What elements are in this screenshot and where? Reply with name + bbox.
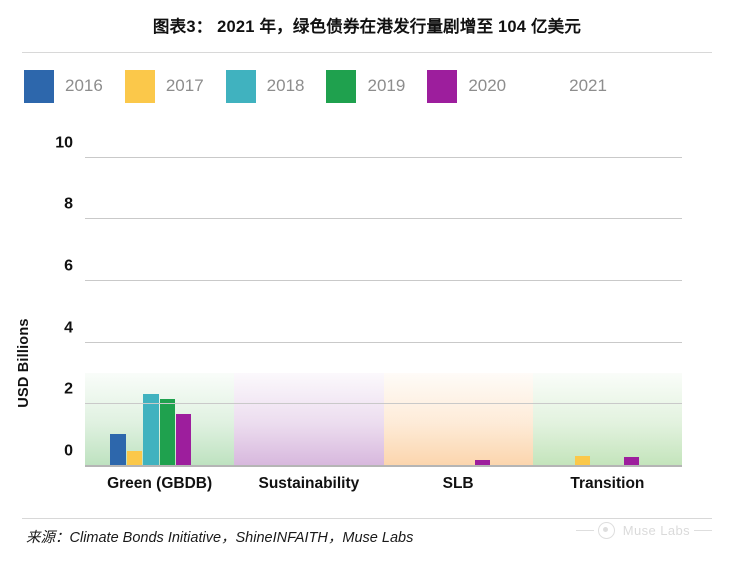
bar-transition-2017[interactable] <box>575 456 590 465</box>
legend-label: 2016 <box>65 76 103 96</box>
watermark: Muse Labs <box>576 522 712 539</box>
bar-group: Green (GBDB) <box>85 132 234 465</box>
page-title: 图表3： 2021 年，绿色债券在港发行量剧增至 104 亿美元 <box>153 13 581 37</box>
source-note: 来源：Climate Bonds Initiative，ShineINFAITH… <box>26 526 413 547</box>
bar-group: Transition <box>533 132 682 465</box>
x-axis-category-label: SLB <box>384 475 533 493</box>
bar-sustainability-2021[interactable] <box>342 419 357 465</box>
legend-swatch-icon <box>427 70 457 103</box>
x-axis-category-label: Transition <box>533 475 682 493</box>
chart-legend: 201620172018201920202021 <box>24 66 714 106</box>
watermark-dash-right <box>694 530 712 531</box>
gridline: 4 <box>85 342 682 343</box>
title-divider <box>22 52 712 53</box>
legend-label: 2017 <box>166 76 204 96</box>
bar-slb-2021[interactable] <box>491 446 506 465</box>
legend-swatch-icon <box>125 70 155 103</box>
gridline: 8 <box>85 218 682 219</box>
legend-item-2018[interactable]: 2018 <box>226 70 305 103</box>
bar-group: Sustainability <box>234 132 383 465</box>
chart-title-bar: 图表3： 2021 年，绿色债券在港发行量剧增至 104 亿美元 <box>0 0 734 50</box>
y-axis-tick-label: 4 <box>64 319 73 337</box>
y-axis-title: USD Billions <box>16 293 32 433</box>
x-axis-category-label: Sustainability <box>234 475 383 493</box>
legend-swatch-icon <box>226 70 256 103</box>
bar-green-gbdb-2018[interactable] <box>143 394 158 465</box>
legend-swatch-icon <box>24 70 54 103</box>
plot-wrapper: USD Billions Green (GBDB)SustainabilityS… <box>0 112 734 512</box>
bar-transition-2020[interactable] <box>624 457 639 465</box>
y-axis-tick-label: 6 <box>64 258 73 276</box>
bar-green-gbdb-2017[interactable] <box>127 451 142 465</box>
y-axis-tick-label: 8 <box>64 196 73 214</box>
gridline: 10 <box>85 157 682 158</box>
bar-transition-2021[interactable] <box>640 440 655 465</box>
plot-area: Green (GBDB)SustainabilitySLBTransition … <box>85 132 682 465</box>
legend-label: 2021 <box>569 76 607 96</box>
legend-item-2017[interactable]: 2017 <box>125 70 204 103</box>
legend-label: 2018 <box>267 76 305 96</box>
y-axis-tick-label: 10 <box>55 134 73 152</box>
watermark-dash-left <box>576 530 594 531</box>
y-axis-tick-label: 2 <box>64 381 73 399</box>
bar-green-gbdb-2020[interactable] <box>176 414 191 465</box>
muse-labs-logo-icon <box>598 522 615 539</box>
footer-divider <box>22 518 712 519</box>
y-axis-tick-label: 0 <box>64 443 73 461</box>
legend-label: 2020 <box>468 76 506 96</box>
watermark-label: Muse Labs <box>623 523 690 538</box>
legend-item-2021[interactable]: 2021 <box>528 70 607 103</box>
legend-item-2016[interactable]: 2016 <box>24 70 103 103</box>
bars-layer: Green (GBDB)SustainabilitySLBTransition <box>85 132 682 465</box>
bar-green-gbdb-2016[interactable] <box>110 434 125 465</box>
gridline: 2 <box>85 403 682 404</box>
bar-group: SLB <box>384 132 533 465</box>
legend-swatch-icon <box>528 70 558 103</box>
x-axis-category-label: Green (GBDB) <box>85 475 234 493</box>
legend-item-2020[interactable]: 2020 <box>427 70 506 103</box>
bar-green-gbdb-2019[interactable] <box>160 399 175 465</box>
legend-item-2019[interactable]: 2019 <box>326 70 405 103</box>
x-axis-baseline: 0 <box>85 465 682 467</box>
gridline: 6 <box>85 280 682 281</box>
legend-label: 2019 <box>367 76 405 96</box>
legend-swatch-icon <box>326 70 356 103</box>
bar-green-gbdb-2021[interactable] <box>192 158 207 465</box>
